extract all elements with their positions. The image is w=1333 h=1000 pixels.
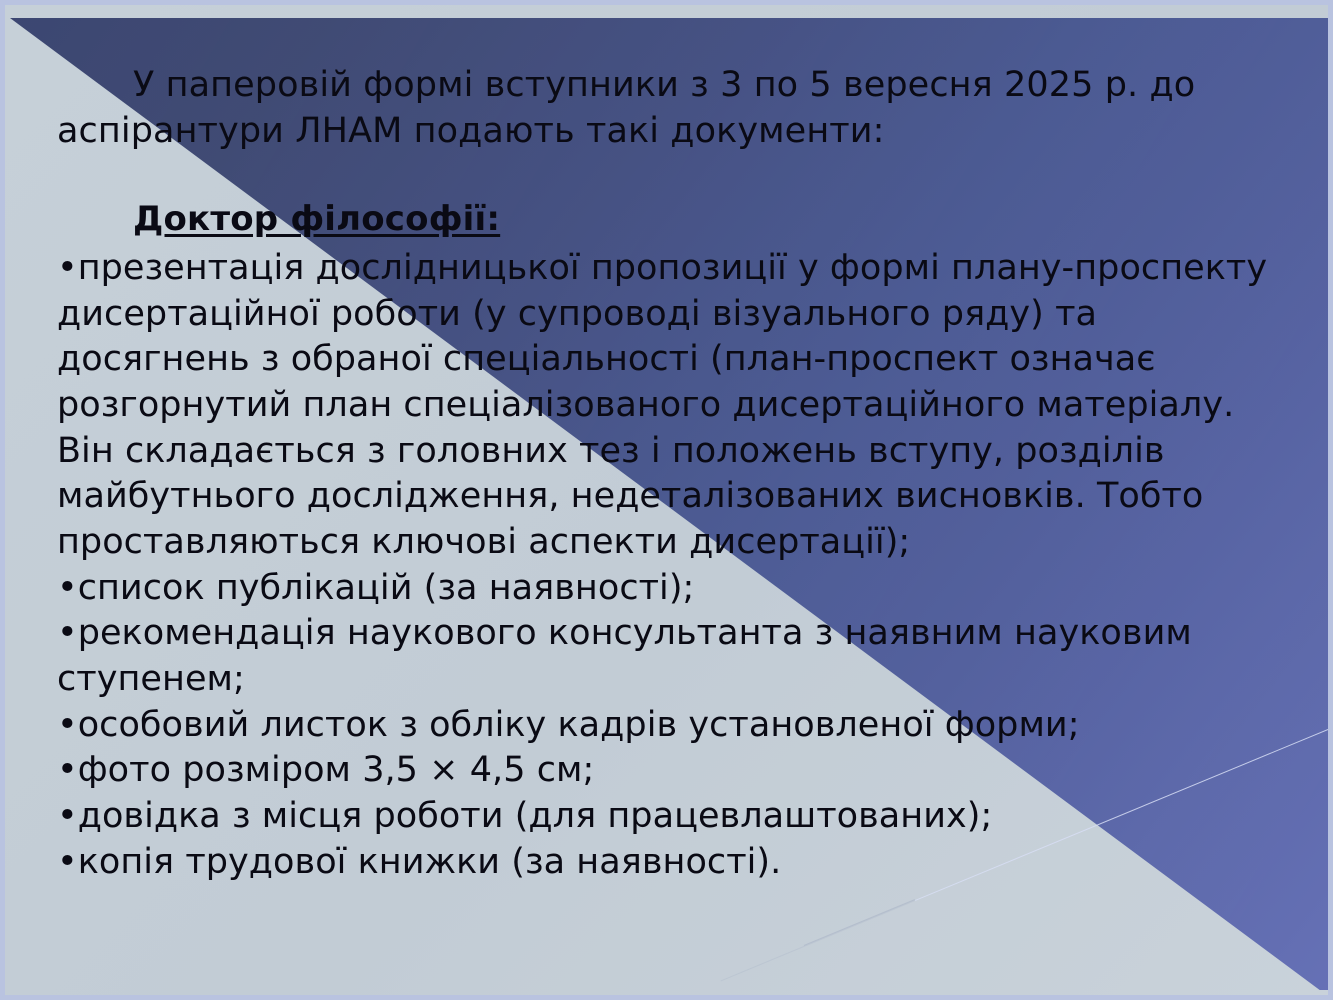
list-item: •рекомендація наукового консультанта з н…: [57, 611, 1287, 702]
presentation-slide: У паперовій формі вступники з 3 по 5 вер…: [0, 0, 1333, 1000]
document-requirements-list: •презентація дослідницької пропозиції у …: [57, 246, 1287, 885]
list-item: •копія трудової книжки (за наявності).: [57, 840, 1287, 886]
slide-content: У паперовій формі вступники з 3 по 5 вер…: [0, 0, 1333, 1000]
section-heading-doctor-of-philosophy: Доктор філософії:: [57, 199, 500, 239]
list-item: •довідка з місця роботи (для працевлашто…: [57, 794, 1287, 840]
list-item: •фото розміром 3,5 × 4,5 см;: [57, 748, 1287, 794]
list-item: •список публікацій (за наявності);: [57, 566, 1287, 612]
list-item: •презентація дослідницької пропозиції у …: [57, 246, 1287, 566]
list-item: •особовий листок з обліку кадрів установ…: [57, 703, 1287, 749]
intro-paragraph: У паперовій формі вступники з 3 по 5 вер…: [57, 62, 1272, 154]
